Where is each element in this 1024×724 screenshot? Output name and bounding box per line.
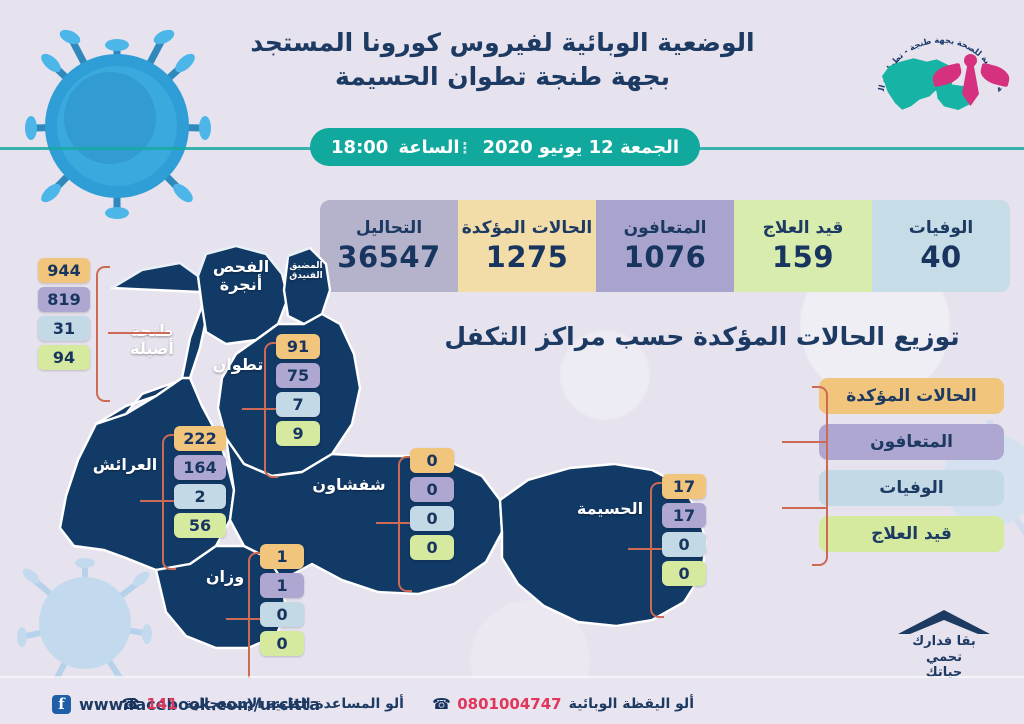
stack-alhoceima-under-treatment: 0 (662, 561, 706, 586)
stack-larache-deaths: 2 (174, 484, 226, 509)
facebook-icon: f (52, 695, 71, 714)
lead-ouezzane (226, 618, 260, 620)
phone-icon-2: ☎ (121, 695, 140, 713)
phone-icon-1: ☎ (432, 695, 451, 713)
house-roof-icon (894, 608, 994, 636)
time-label: الساعة (398, 137, 459, 158)
health-directorate-logo: المديرية الجهوية للصحة بجهة طنجة - تطوان… (866, 8, 1016, 148)
pill-separator-icon: ⋮ (470, 139, 473, 155)
stat-under-treatment-label: قيد العلاج (763, 218, 844, 238)
legend: الحالات المؤكدة المتعافون الوفيات قيد ال… (819, 378, 1004, 562)
legend-item-recovered: المتعافون (819, 424, 1004, 460)
stack-chefchaouen: 0 0 0 0 (410, 448, 454, 564)
stay-home-badge: بقا فدارك تحمي حياتك (880, 608, 1008, 680)
legend-label-deaths: الوفيات (879, 478, 943, 498)
region-map: طنجةأصيلة الفحصأنجرة المضيقالفنيدق تطوان… (30, 228, 770, 668)
hotline-emergency-medical[interactable]: ألو المساعدة الطبية الإستعجالية 141 ☎ (121, 695, 404, 713)
stack-tanger-deaths: 31 (38, 316, 90, 341)
lead-tanger (108, 332, 170, 334)
infographic-canvas: الوضعية الوبائية لفيروس كورونا المستجد ب… (0, 0, 1024, 724)
stack-larache-confirmed: 222 (174, 426, 226, 451)
stack-larache-recovered: 164 (174, 455, 226, 480)
date-time-pill: الجمعة 12 يونيو 2020 ⋮ الساعة 18:00 (310, 128, 700, 166)
map-label-fahs-anjra: الفحصأنجرة (198, 258, 284, 295)
lead-alhoceima (628, 548, 662, 550)
stack-alhoceima-confirmed: 17 (662, 474, 706, 499)
stack-tetouan-under-treatment: 9 (276, 421, 320, 446)
stack-ouezzane-deaths: 0 (260, 602, 304, 627)
stack-tetouan-recovered: 75 (276, 363, 320, 388)
legend-label-under-treatment: قيد العلاج (871, 524, 952, 544)
map-label-mdiq-fnideq: المضيقالفنيدق (278, 262, 334, 282)
stack-ouezzane-recovered: 1 (260, 573, 304, 598)
stat-under-treatment-value: 159 (772, 240, 834, 274)
stack-alhoceima: 17 17 0 0 (662, 474, 706, 590)
legend-item-deaths: الوفيات (819, 470, 1004, 506)
lead-chefchaouen (376, 522, 410, 524)
stack-ouezzane-under-treatment: 0 (260, 631, 304, 656)
legend-tick-upper (782, 441, 828, 443)
date-text: الجمعة 12 يونيو 2020 (483, 137, 679, 158)
stat-deaths-value: 40 (920, 240, 961, 274)
stay-home-line-2: تحمي (880, 650, 1008, 665)
stack-chefchaouen-deaths: 0 (410, 506, 454, 531)
hotline-emergency-number: 141 (146, 695, 177, 713)
stack-alhoceima-deaths: 0 (662, 532, 706, 557)
legend-bracket (812, 386, 828, 566)
stack-alhoceima-recovered: 17 (662, 503, 706, 528)
virus-decoration-topleft (12, 18, 222, 233)
stack-tanger-recovered: 819 (38, 287, 90, 312)
map-label-chefchaouen: شفشاون (302, 476, 396, 494)
hotline-epidemic-watch[interactable]: ألو اليقظة الوبائية 0801004747 ☎ (432, 695, 694, 713)
hotline-emergency-label: ألو المساعدة الطبية الإستعجالية (185, 696, 404, 712)
bracket-tanger (96, 266, 110, 402)
page-title: الوضعية الوبائية لفيروس كورونا المستجد ب… (195, 26, 810, 94)
stack-tanger: 944 819 31 94 (38, 258, 90, 374)
legend-item-under-treatment: قيد العلاج (819, 516, 1004, 552)
stack-chefchaouen-recovered: 0 (410, 477, 454, 502)
stack-larache: 222 164 2 56 (174, 426, 226, 542)
stack-chefchaouen-under-treatment: 0 (410, 535, 454, 560)
stack-ouezzane: 1 1 0 0 (260, 544, 304, 660)
stack-tanger-under-treatment: 94 (38, 345, 90, 370)
lead-larache (140, 500, 174, 502)
stack-chefchaouen-confirmed: 0 (410, 448, 454, 473)
stay-home-line-1: بقا فدارك (880, 634, 1008, 649)
stat-deaths: الوفيات 40 (872, 200, 1010, 292)
time-text: 18:00 (331, 137, 388, 158)
stat-deaths-label: الوفيات (909, 218, 973, 238)
lead-tetouan (242, 408, 276, 410)
title-line-2: بجهة طنجة تطوان الحسيمة (195, 60, 810, 94)
stack-tetouan: 91 75 7 9 (276, 334, 320, 450)
map-label-alhoceima: الحسيمة (560, 500, 660, 518)
stack-tetouan-deaths: 7 (276, 392, 320, 417)
logo-person-icon (940, 52, 1002, 114)
legend-tick-lower (782, 507, 828, 509)
stack-larache-under-treatment: 56 (174, 513, 226, 538)
title-line-1: الوضعية الوبائية لفيروس كورونا المستجد (250, 28, 754, 57)
map-label-tanger: طنجةأصيلة (112, 322, 192, 359)
stack-tanger-confirmed: 944 (38, 258, 90, 283)
map-area-mdiq-fnideq (284, 248, 330, 324)
stack-ouezzane-confirmed: 1 (260, 544, 304, 569)
legend-label-confirmed: الحالات المؤكدة (846, 386, 977, 406)
hotline-epidemic-number: 0801004747 (457, 695, 561, 713)
stack-tetouan-confirmed: 91 (276, 334, 320, 359)
hotline-epidemic-label: ألو اليقظة الوبائية (569, 696, 694, 712)
map-label-larache: العرائش (78, 456, 172, 474)
legend-label-recovered: المتعافون (870, 432, 953, 452)
legend-item-confirmed: الحالات المؤكدة (819, 378, 1004, 414)
